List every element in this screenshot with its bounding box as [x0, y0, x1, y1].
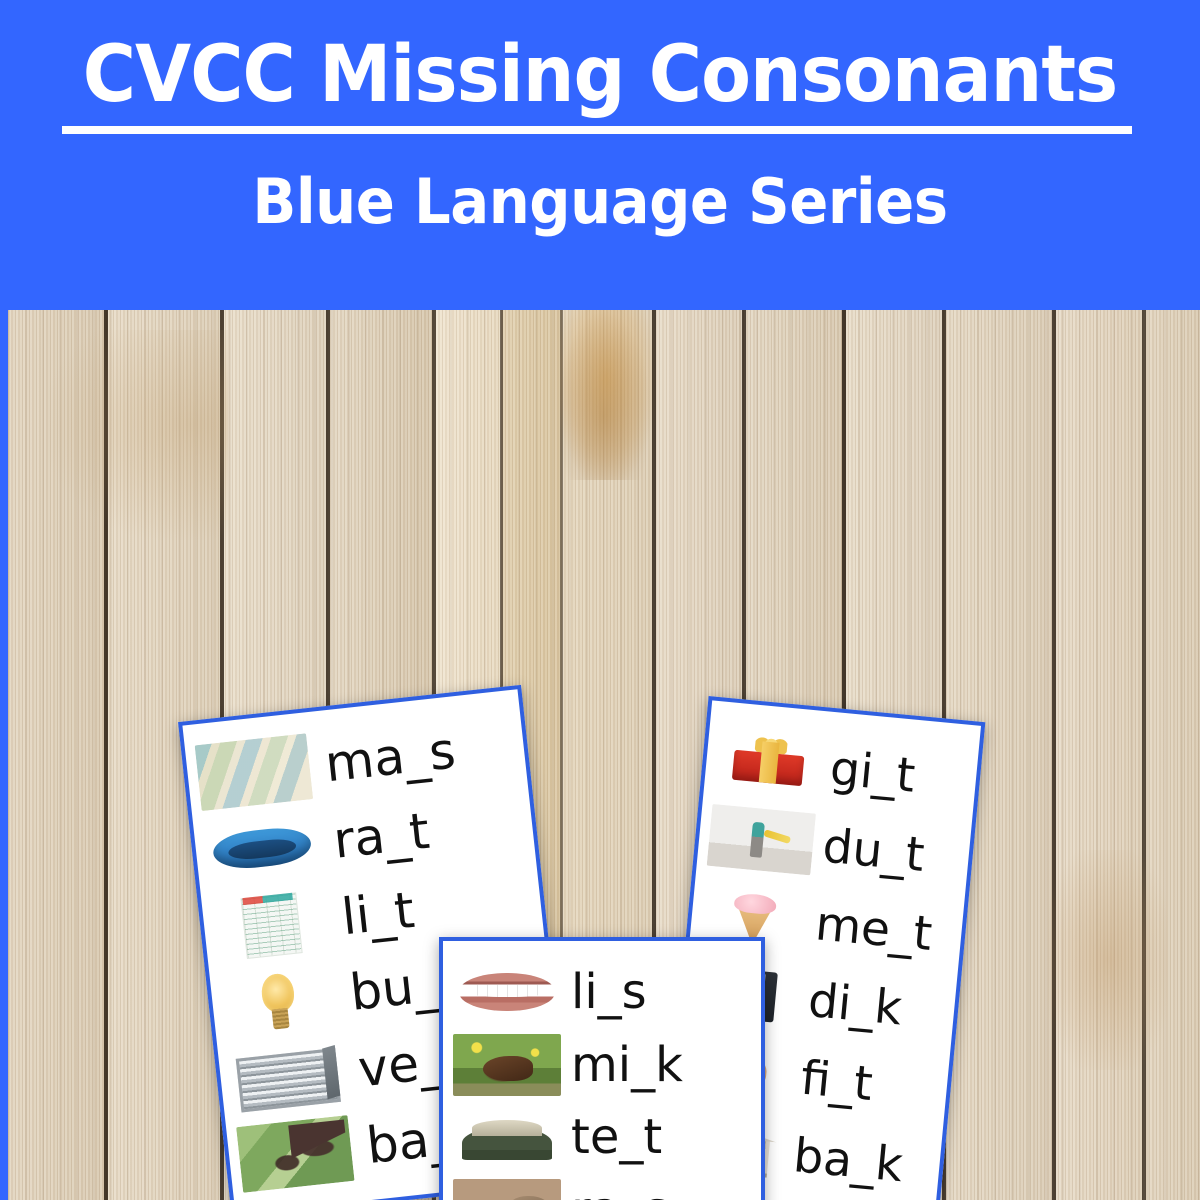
- title-underline: [62, 126, 1132, 134]
- mats-icon: [195, 733, 313, 811]
- bulb-icon: [220, 962, 338, 1040]
- wood-knot: [560, 310, 652, 480]
- page-title: CVCC Missing Consonants: [42, 36, 1158, 114]
- card-row: gi_t: [704, 726, 979, 813]
- product-photo: ma_s ra_t li_t bu_b ve_t: [8, 310, 1200, 1200]
- card-word: du_t: [820, 819, 926, 883]
- card-row: ra_s: [443, 1179, 761, 1200]
- lips-icon: [453, 961, 561, 1023]
- raft-icon: [203, 810, 321, 888]
- card-word: di_k: [806, 973, 904, 1037]
- card-word: li_s: [571, 964, 647, 1020]
- card-word: ma_s: [316, 721, 458, 793]
- wood-knot-tertiary: [48, 330, 228, 540]
- rats-icon: [453, 1179, 561, 1200]
- word-card-center[interactable]: li_s mi_k te_t ra_s ve_t: [439, 937, 765, 1200]
- card-word: ra_t: [325, 801, 432, 870]
- dusting-icon: [707, 804, 816, 876]
- card-row: mi_k: [443, 1034, 761, 1096]
- poster-header: CVCC Missing Consonants Blue Language Se…: [0, 0, 1200, 310]
- page-subtitle: Blue Language Series: [42, 165, 1158, 238]
- card-row-list: li_s mi_k te_t ra_s ve_t: [443, 941, 761, 1200]
- list-icon: [211, 886, 329, 964]
- card-row: te_t: [443, 1106, 761, 1168]
- card-word: ba_k: [791, 1128, 905, 1193]
- card-word: mi_k: [571, 1037, 683, 1093]
- gift-icon: [714, 727, 823, 799]
- card-row: li_s: [443, 961, 761, 1023]
- wood-knot-secondary: [1048, 850, 1168, 1070]
- mink-icon: [453, 1034, 561, 1096]
- card-word: me_t: [813, 896, 934, 962]
- bats-icon: [236, 1115, 354, 1193]
- vent-icon: [228, 1039, 346, 1117]
- card-row: du_t: [697, 803, 972, 890]
- card-word: ra_s: [571, 1182, 669, 1200]
- poster-page: CVCC Missing Consonants Blue Language Se…: [0, 0, 1200, 1200]
- card-word: fi_t: [798, 1051, 874, 1112]
- card-word: li_t: [333, 880, 417, 946]
- tent-icon: [453, 1106, 561, 1168]
- card-word: te_t: [571, 1109, 662, 1165]
- card-word: gi_t: [828, 741, 918, 804]
